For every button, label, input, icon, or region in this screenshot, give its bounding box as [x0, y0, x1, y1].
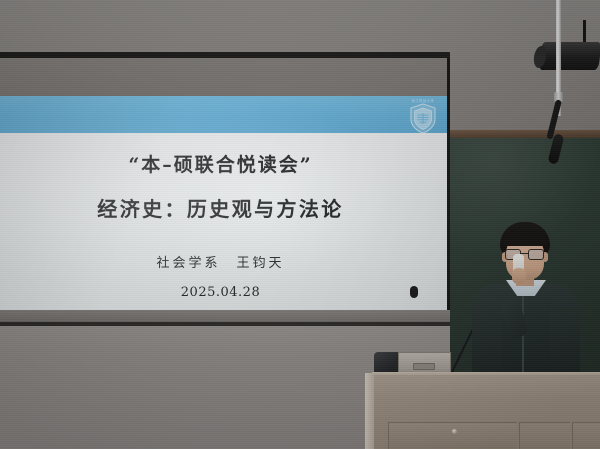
presenter-fringe [503, 230, 547, 246]
screen-frame [0, 58, 450, 316]
podium-side-panel [365, 373, 374, 449]
eyeglasses-icon [504, 249, 546, 260]
hanging-light-fixture [538, 42, 600, 70]
screen-bottom-edge [0, 322, 450, 326]
presenter-left-arm [472, 296, 502, 378]
lecture-hall-photo: 浙江财经大学 “本–硕联合悦读会” 经济史：历史观与方法论 社会学系 王钧天 2… [0, 0, 600, 449]
presenter-right-arm [550, 296, 580, 378]
podium-drawer[interactable] [572, 422, 600, 449]
podium-drawer[interactable] [519, 422, 570, 449]
presenter-hand [512, 268, 526, 284]
equipment-box-handle [413, 363, 435, 370]
drawer-knob[interactable] [452, 429, 457, 434]
podium-drawer[interactable] [388, 422, 517, 449]
glasses-lens-right [528, 249, 544, 260]
gooseneck-capsule [410, 286, 418, 298]
presenter [466, 222, 590, 377]
